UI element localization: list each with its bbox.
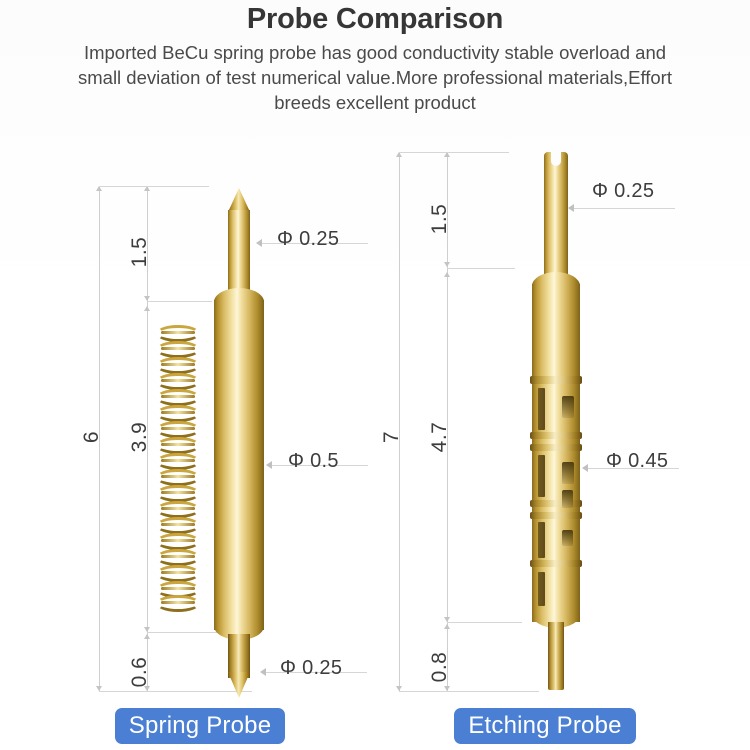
seg3-extension-bottom-right: [399, 691, 539, 692]
seg1-extension-bottom-right: [447, 268, 515, 269]
barrel-ring: [530, 560, 582, 567]
seg2-arrow-top-left: [144, 306, 150, 311]
body-diameter-label-right: Φ 0.45: [606, 450, 668, 473]
barrel-ring: [530, 500, 582, 507]
barrel-ring: [530, 444, 582, 451]
body-diameter-label-left: Φ 0.5: [288, 450, 339, 473]
spring-coil: [156, 325, 200, 615]
top-diameter-arrow-left: [256, 239, 262, 247]
barrel-ring: [530, 512, 582, 519]
spring-probe-panel: 6 1.5 3.9 0.6: [0, 0, 400, 750]
barrel-slot: [562, 490, 573, 508]
probe-lower-plunger: [228, 634, 250, 678]
seg3-length-label-right: 0.8: [428, 637, 452, 697]
top-diameter-leader-right: [570, 208, 675, 209]
overall-length-label-right: 7: [380, 407, 404, 467]
seg3-length-label-left: 0.6: [128, 642, 152, 702]
barrel-slot: [562, 396, 574, 418]
crown-tip-notch: [551, 150, 561, 166]
seg3-extension-top-right: [447, 622, 522, 623]
seg1-extension-bottom-left: [147, 301, 212, 302]
probe-top-tip: [228, 188, 250, 212]
body-diameter-arrow-right: [582, 464, 588, 472]
seg3-arrow-top-left: [144, 634, 150, 639]
body-diameter-arrow-left: [266, 461, 272, 469]
seg3-extension-bottom-left: [99, 691, 252, 692]
bottom-diameter-arrow-left: [260, 668, 266, 676]
probe-comparison-figure: Probe Comparison Imported BeCu spring pr…: [0, 0, 750, 750]
barrel-slot: [538, 455, 545, 497]
seg2-length-label-left: 3.9: [128, 407, 152, 467]
seg2-length-label-right: 4.7: [428, 407, 452, 467]
barrel-slot: [538, 522, 545, 558]
probe-upper-barrel-right: [532, 284, 580, 380]
top-diameter-label-right: Φ 0.25: [592, 180, 654, 203]
etching-probe-badge[interactable]: Etching Probe: [454, 708, 636, 744]
probe-bottom-tip: [228, 672, 250, 698]
barrel-ring: [530, 376, 582, 384]
barrel-slot: [538, 388, 545, 430]
seg1-extension-top-right: [399, 152, 509, 153]
probe-lower-pin-right: [548, 622, 564, 690]
probe-barrel: [214, 300, 264, 630]
seg1-extension-top-left: [99, 186, 209, 187]
top-diameter-label-left: Φ 0.25: [277, 228, 339, 251]
seg1-length-label-right: 1.5: [428, 189, 452, 249]
bottom-diameter-label-left: Φ 0.25: [280, 657, 342, 680]
spring-probe-badge[interactable]: Spring Probe: [115, 708, 285, 744]
seg1-length-label-left: 1.5: [128, 222, 152, 282]
seg3-arrow-top-right: [444, 624, 450, 629]
seg2-arrow-top-right: [444, 272, 450, 277]
top-diameter-arrow-right: [568, 204, 574, 212]
barrel-ring: [530, 432, 582, 439]
overall-length-label-left: 6: [80, 407, 104, 467]
seg3-extension-top-left: [147, 632, 222, 633]
etching-probe-panel: 7 1.5 4.7 0.8: [380, 0, 750, 750]
barrel-slot: [562, 462, 574, 484]
seg1-arrow-bottom-right: [444, 262, 450, 267]
probe-crown-tip: [544, 152, 568, 278]
probe-upper-plunger: [228, 210, 250, 295]
barrel-slot: [562, 530, 573, 546]
barrel-slot: [538, 572, 545, 606]
